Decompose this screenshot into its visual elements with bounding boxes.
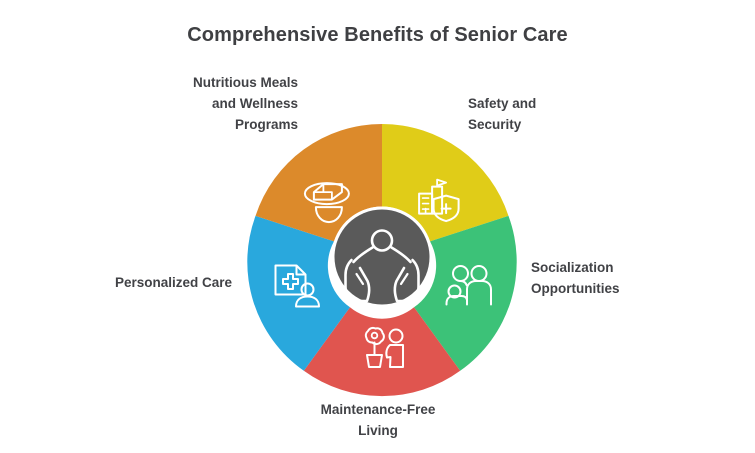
- label-nutritious-line1: Nutritious Meals: [98, 73, 298, 94]
- label-socialization-line2: Opportunities: [531, 279, 746, 300]
- label-nutritious-line2: and Wellness: [98, 94, 298, 115]
- center-circle-fill: [335, 210, 430, 305]
- label-maintenance-free-living: Maintenance-Free Living: [258, 400, 498, 442]
- label-socialization-line1: Socialization: [531, 258, 746, 279]
- label-safety-line1: Safety and: [468, 94, 678, 115]
- label-personalized-line1: Personalized Care: [22, 273, 232, 294]
- label-personalized-care: Personalized Care: [22, 273, 232, 294]
- label-maintenance-line2: Living: [258, 421, 498, 442]
- infographic-canvas: Comprehensive Benefits of Senior Care Nu…: [0, 0, 755, 453]
- label-maintenance-line1: Maintenance-Free: [258, 400, 498, 421]
- page-title: Comprehensive Benefits of Senior Care: [0, 24, 755, 47]
- benefits-donut-wheel: [249, 124, 515, 390]
- label-socialization-opportunities: Socialization Opportunities: [531, 258, 746, 300]
- center-hub: [332, 207, 433, 308]
